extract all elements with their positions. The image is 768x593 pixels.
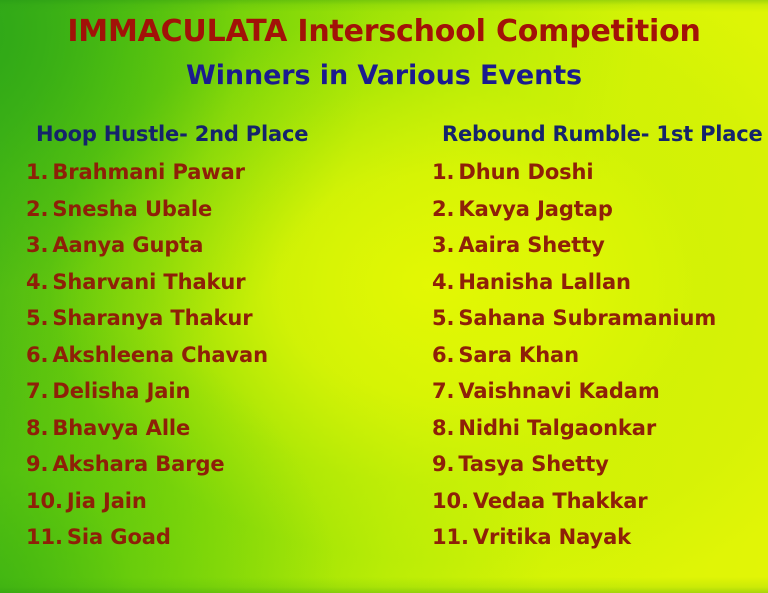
list-item: 9.Akshara Barge (22, 446, 422, 483)
list-item-name: Sahana Subramanium (458, 306, 716, 330)
list-item: 10.Vedaa Thakkar (420, 483, 768, 520)
list-item-number: 6. (26, 343, 48, 367)
winner-list-rebound-rumble: 1.Dhun Doshi2.Kavya Jagtap3.Aaira Shetty… (420, 154, 768, 556)
list-item-name: Aaira Shetty (458, 233, 604, 257)
list-item: 8.Bhavya Alle (22, 410, 422, 447)
list-item: 6.Sara Khan (420, 337, 768, 374)
list-item-name: Vaishnavi Kadam (458, 379, 659, 403)
list-item-number: 1. (432, 160, 454, 184)
winners-poster: IMMACULATA Interschool Competition Winne… (0, 0, 768, 593)
list-item-name: Sara Khan (458, 343, 579, 367)
page-subtitle: Winners in Various Events (0, 60, 768, 91)
list-item: 3.Aanya Gupta (22, 227, 422, 264)
list-item-number: 8. (432, 416, 454, 440)
list-item-number: 8. (26, 416, 48, 440)
list-item: 4.Sharvani Thakur (22, 264, 422, 301)
list-item: 7.Vaishnavi Kadam (420, 373, 768, 410)
list-item-name: Hanisha Lallan (458, 270, 631, 294)
list-item: 4.Hanisha Lallan (420, 264, 768, 301)
list-item: 3.Aaira Shetty (420, 227, 768, 264)
list-item: 1.Dhun Doshi (420, 154, 768, 191)
list-item-number: 9. (26, 452, 48, 476)
list-item-number: 11. (432, 525, 469, 549)
list-item: 11.Vritika Nayak (420, 519, 768, 556)
list-item-number: 5. (26, 306, 48, 330)
list-item-number: 10. (432, 489, 469, 513)
list-item-number: 7. (26, 379, 48, 403)
list-item-number: 2. (432, 197, 454, 221)
column-rebound-rumble: Rebound Rumble- 1st Place 1.Dhun Doshi2.… (420, 122, 768, 556)
list-item: 2.Kavya Jagtap (420, 191, 768, 228)
list-item-name: Tasya Shetty (458, 452, 608, 476)
list-item-name: Akshara Barge (52, 452, 224, 476)
poster-content: IMMACULATA Interschool Competition Winne… (0, 0, 768, 593)
list-item-number: 6. (432, 343, 454, 367)
list-item-number: 4. (432, 270, 454, 294)
list-item-number: 3. (26, 233, 48, 257)
list-item-name: Bhavya Alle (52, 416, 190, 440)
list-item-name: Jia Jain (67, 489, 147, 513)
list-item-name: Sia Goad (67, 525, 171, 549)
column-header-hoop-hustle: Hoop Hustle- 2nd Place (22, 122, 422, 146)
column-hoop-hustle: Hoop Hustle- 2nd Place 1.Brahmani Pawar2… (22, 122, 422, 556)
list-item-name: Vedaa Thakkar (473, 489, 648, 513)
list-item: 11.Sia Goad (22, 519, 422, 556)
page-title: IMMACULATA Interschool Competition (0, 14, 768, 49)
list-item: 2.Snesha Ubale (22, 191, 422, 228)
list-item-name: Nidhi Talgaonkar (458, 416, 656, 440)
list-item: 9.Tasya Shetty (420, 446, 768, 483)
list-item-name: Akshleena Chavan (52, 343, 268, 367)
list-item: 8.Nidhi Talgaonkar (420, 410, 768, 447)
list-item: 7.Delisha Jain (22, 373, 422, 410)
list-item-name: Vritika Nayak (473, 525, 631, 549)
list-item-number: 11. (26, 525, 63, 549)
list-item: 10.Jia Jain (22, 483, 422, 520)
list-item-number: 10. (26, 489, 63, 513)
list-item-number: 3. (432, 233, 454, 257)
list-item-number: 5. (432, 306, 454, 330)
list-item-name: Aanya Gupta (52, 233, 203, 257)
list-item-name: Sharanya Thakur (52, 306, 252, 330)
list-item-name: Delisha Jain (52, 379, 190, 403)
list-item-name: Sharvani Thakur (52, 270, 245, 294)
list-item: 1.Brahmani Pawar (22, 154, 422, 191)
list-item-number: 1. (26, 160, 48, 184)
list-item-number: 7. (432, 379, 454, 403)
list-item: 5.Sharanya Thakur (22, 300, 422, 337)
list-item: 6.Akshleena Chavan (22, 337, 422, 374)
list-item-number: 2. (26, 197, 48, 221)
list-item-name: Brahmani Pawar (52, 160, 245, 184)
list-item-number: 9. (432, 452, 454, 476)
list-item-number: 4. (26, 270, 48, 294)
list-item-name: Snesha Ubale (52, 197, 212, 221)
list-item-name: Dhun Doshi (458, 160, 593, 184)
column-header-rebound-rumble: Rebound Rumble- 1st Place (420, 122, 768, 146)
list-item-name: Kavya Jagtap (458, 197, 612, 221)
winner-list-hoop-hustle: 1.Brahmani Pawar2.Snesha Ubale3.Aanya Gu… (22, 154, 422, 556)
list-item: 5.Sahana Subramanium (420, 300, 768, 337)
